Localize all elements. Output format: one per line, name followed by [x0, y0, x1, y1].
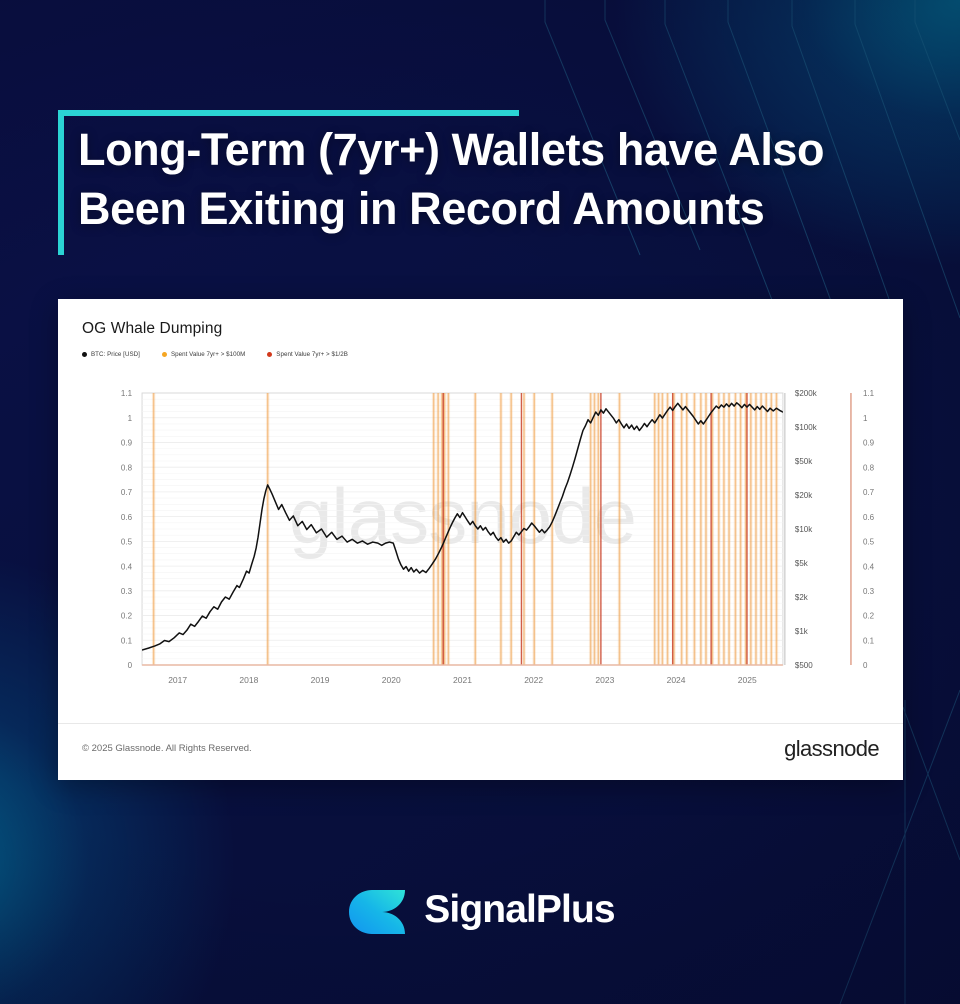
svg-text:0.7: 0.7: [863, 488, 875, 497]
chart-axis-left: 00.10.20.30.40.50.60.70.80.911.1: [121, 389, 133, 670]
svg-text:0.3: 0.3: [863, 587, 875, 596]
svg-text:$2k: $2k: [795, 593, 809, 602]
svg-text:0.9: 0.9: [863, 439, 875, 448]
legend-label: Spent Value 7yr+ > $1/2B: [276, 351, 348, 358]
headline-block: Long-Term (7yr+) Wallets have Also Been …: [58, 110, 908, 239]
svg-text:$1k: $1k: [795, 627, 809, 636]
svg-text:$200k: $200k: [795, 389, 818, 398]
chart-axis-x: 201720182019202020212022202320242025: [142, 665, 783, 685]
chart-title: OG Whale Dumping: [82, 320, 222, 338]
svg-text:1.1: 1.1: [863, 389, 875, 398]
svg-text:1.1: 1.1: [121, 389, 133, 398]
svg-text:$10k: $10k: [795, 525, 813, 534]
legend-dot-icon: [267, 352, 272, 357]
legend-label: Spent Value 7yr+ > $100M: [171, 351, 245, 358]
svg-text:$5k: $5k: [795, 559, 809, 568]
chart-plot-area[interactable]: glassnode 00.10.20.30.40.50.60.70.80.911…: [82, 383, 883, 701]
svg-text:1: 1: [863, 414, 868, 423]
svg-text:0.4: 0.4: [863, 562, 875, 571]
card-divider: [58, 723, 903, 724]
svg-text:0.3: 0.3: [121, 587, 133, 596]
svg-text:$20k: $20k: [795, 491, 813, 500]
svg-text:$500: $500: [795, 661, 813, 670]
svg-text:0.5: 0.5: [121, 538, 133, 547]
svg-text:0.2: 0.2: [121, 612, 133, 621]
page-title-line2: Been Exiting in Record Amounts: [78, 179, 908, 238]
svg-text:2023: 2023: [595, 675, 614, 685]
page-title-line1: Long-Term (7yr+) Wallets have Also: [78, 120, 908, 179]
svg-text:0.6: 0.6: [863, 513, 875, 522]
chart-axis-right-price: $500$1k$2k$5k$10k$20k$50k$100k$200k: [785, 389, 818, 670]
svg-text:0.4: 0.4: [121, 562, 133, 571]
accent-bar-top: [58, 110, 519, 116]
svg-text:0.9: 0.9: [121, 439, 133, 448]
chart-legend: BTC: Price [USD] Spent Value 7yr+ > $100…: [82, 351, 348, 358]
svg-text:0: 0: [128, 661, 133, 670]
accent-bar-left: [58, 110, 64, 255]
svg-text:0: 0: [863, 661, 868, 670]
glassnode-logo: glassnode: [784, 736, 879, 762]
svg-text:0.7: 0.7: [121, 488, 133, 497]
legend-item-btc-price[interactable]: BTC: Price [USD]: [82, 351, 140, 358]
svg-text:1: 1: [128, 414, 133, 423]
copyright-text: © 2025 Glassnode. All Rights Reserved.: [82, 743, 252, 754]
svg-text:0.8: 0.8: [121, 463, 133, 472]
svg-text:2017: 2017: [168, 675, 187, 685]
svg-text:2021: 2021: [453, 675, 472, 685]
svg-text:0.5: 0.5: [863, 538, 875, 547]
legend-label: BTC: Price [USD]: [91, 351, 140, 358]
chart-axis-right-secondary: 00.10.20.30.40.50.60.70.80.911.1: [851, 389, 875, 670]
svg-text:0.8: 0.8: [863, 463, 875, 472]
svg-text:2020: 2020: [382, 675, 401, 685]
chart-card: OG Whale Dumping BTC: Price [USD] Spent …: [58, 299, 903, 780]
svg-text:0.1: 0.1: [121, 636, 133, 645]
svg-text:2018: 2018: [239, 675, 258, 685]
legend-item-spent-100m[interactable]: Spent Value 7yr+ > $100M: [162, 351, 245, 358]
page-title: Long-Term (7yr+) Wallets have Also Been …: [58, 110, 908, 239]
svg-text:2022: 2022: [524, 675, 543, 685]
brand-footer: SignalPlus: [0, 882, 960, 938]
legend-dot-icon: [162, 352, 167, 357]
signalplus-wave-icon: [345, 882, 409, 938]
svg-text:2025: 2025: [738, 675, 757, 685]
svg-text:0.6: 0.6: [121, 513, 133, 522]
svg-text:2024: 2024: [667, 675, 686, 685]
legend-item-spent-halfb[interactable]: Spent Value 7yr+ > $1/2B: [267, 351, 348, 358]
svg-text:0.2: 0.2: [863, 612, 875, 621]
svg-text:$100k: $100k: [795, 423, 818, 432]
chart-watermark: glassnode: [289, 472, 636, 560]
svg-text:0.1: 0.1: [863, 636, 875, 645]
brand-name: SignalPlus: [424, 888, 614, 932]
svg-text:$50k: $50k: [795, 457, 813, 466]
chart-svg: glassnode 00.10.20.30.40.50.60.70.80.911…: [82, 383, 883, 701]
legend-dot-icon: [82, 352, 87, 357]
svg-text:2019: 2019: [311, 675, 330, 685]
